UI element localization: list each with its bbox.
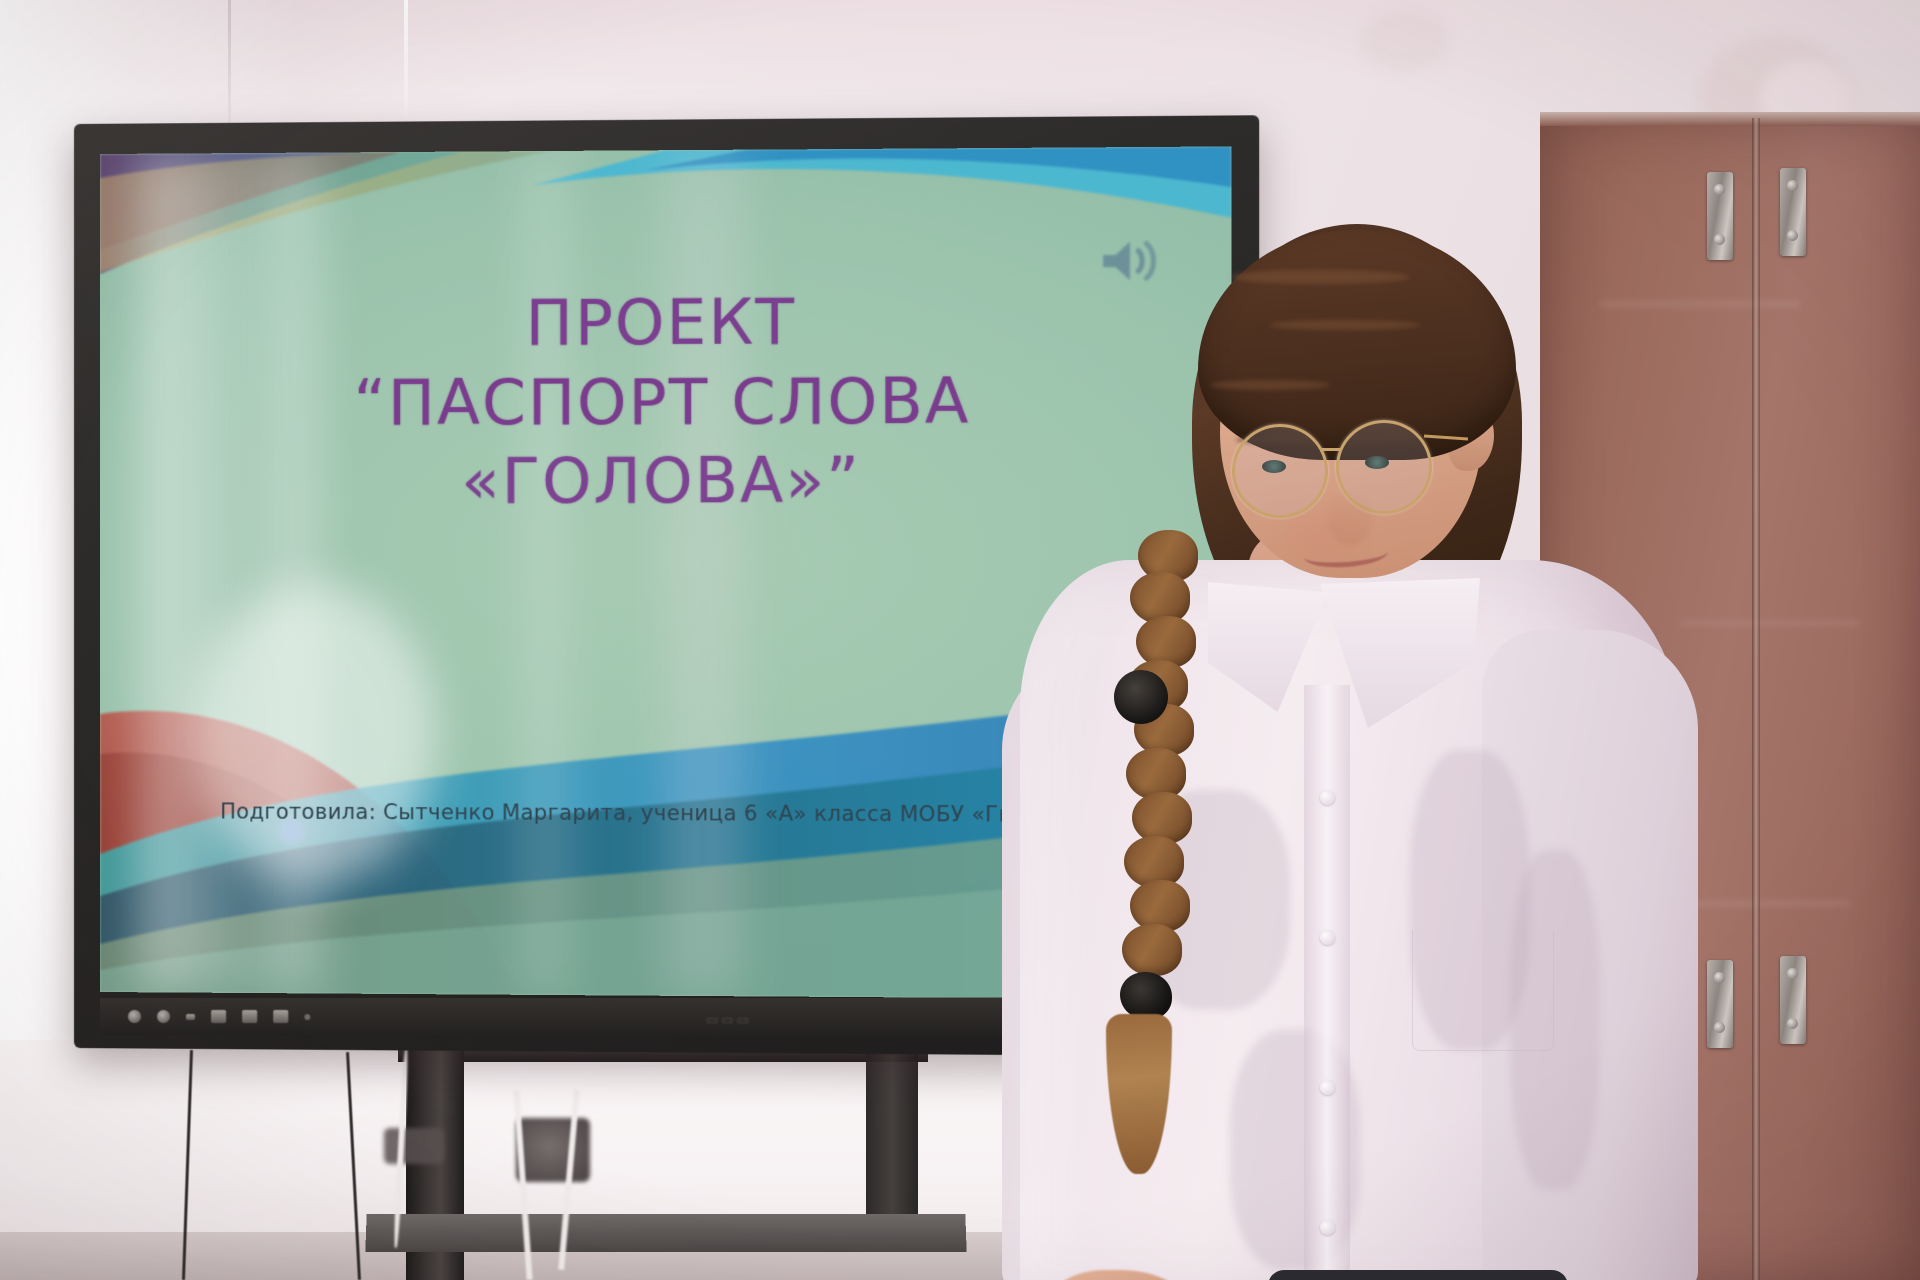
wall-smudge (1360, 10, 1450, 70)
hair-strand (1210, 380, 1330, 390)
hair-braid (1102, 530, 1224, 1090)
usb-port-icon (128, 1010, 141, 1023)
wall-seam (404, 0, 408, 120)
hair-bangs (1198, 230, 1516, 460)
slide-title-line-2: “ПАСПОРТ СЛОВА (100, 361, 1231, 444)
hair-strand (1270, 320, 1420, 330)
shirt-button (1320, 1220, 1335, 1235)
hair-tie (1120, 972, 1172, 1020)
glasses-bridge (1320, 448, 1340, 451)
photo-scene: ПРОЕКТ “ПАСПОРТ СЛОВА «ГОЛОВА»” Подготов… (0, 0, 1920, 1280)
slide-title-line-3: «ГОЛОВА»” (100, 441, 1231, 522)
cabinet-top-edge (1540, 112, 1920, 126)
wall-socket (384, 1128, 444, 1164)
slide-title-block: ПРОЕКТ “ПАСПОРТ СЛОВА «ГОЛОВА»” (100, 281, 1231, 522)
cabinet-hinge (1707, 172, 1733, 260)
student-presenter (1080, 230, 1700, 1280)
wall-outlet (516, 1118, 590, 1182)
indicator-led-icon (304, 1013, 310, 1019)
wall-seam (228, 0, 231, 132)
shirt-button (1320, 930, 1335, 945)
cabinet-hinge (1780, 168, 1806, 256)
cabinet-grain (1680, 620, 1860, 626)
stand-column-right (866, 1046, 918, 1216)
hair-tie-upper (1114, 670, 1168, 724)
braid-segment (1122, 924, 1182, 976)
usb-port-icon (211, 1010, 226, 1023)
slide-title-line-1: ПРОЕКТ (100, 281, 1231, 365)
shirt-button (1320, 1080, 1335, 1095)
usb-port-icon (242, 1010, 257, 1023)
stand-shelf (365, 1214, 966, 1252)
display-brand-logo: ▭▭▭ (706, 1012, 752, 1028)
shirt-pocket (1412, 930, 1554, 1051)
shirt-button (1320, 790, 1335, 805)
cabinet-hinge (1707, 960, 1733, 1048)
skirt (1268, 1270, 1568, 1280)
hair-strand (1230, 270, 1410, 284)
cabinet-hinge (1780, 956, 1806, 1044)
glasses-lens-left (1232, 424, 1328, 518)
usb-port-icon (273, 1010, 288, 1023)
nose (1328, 492, 1372, 546)
cabinet-door-seam (1752, 118, 1760, 1280)
hdmi-port-icon (186, 1013, 195, 1019)
power-button-icon[interactable] (157, 1010, 170, 1023)
display-port-row[interactable] (128, 1010, 310, 1023)
shirt-placket (1304, 685, 1350, 1280)
